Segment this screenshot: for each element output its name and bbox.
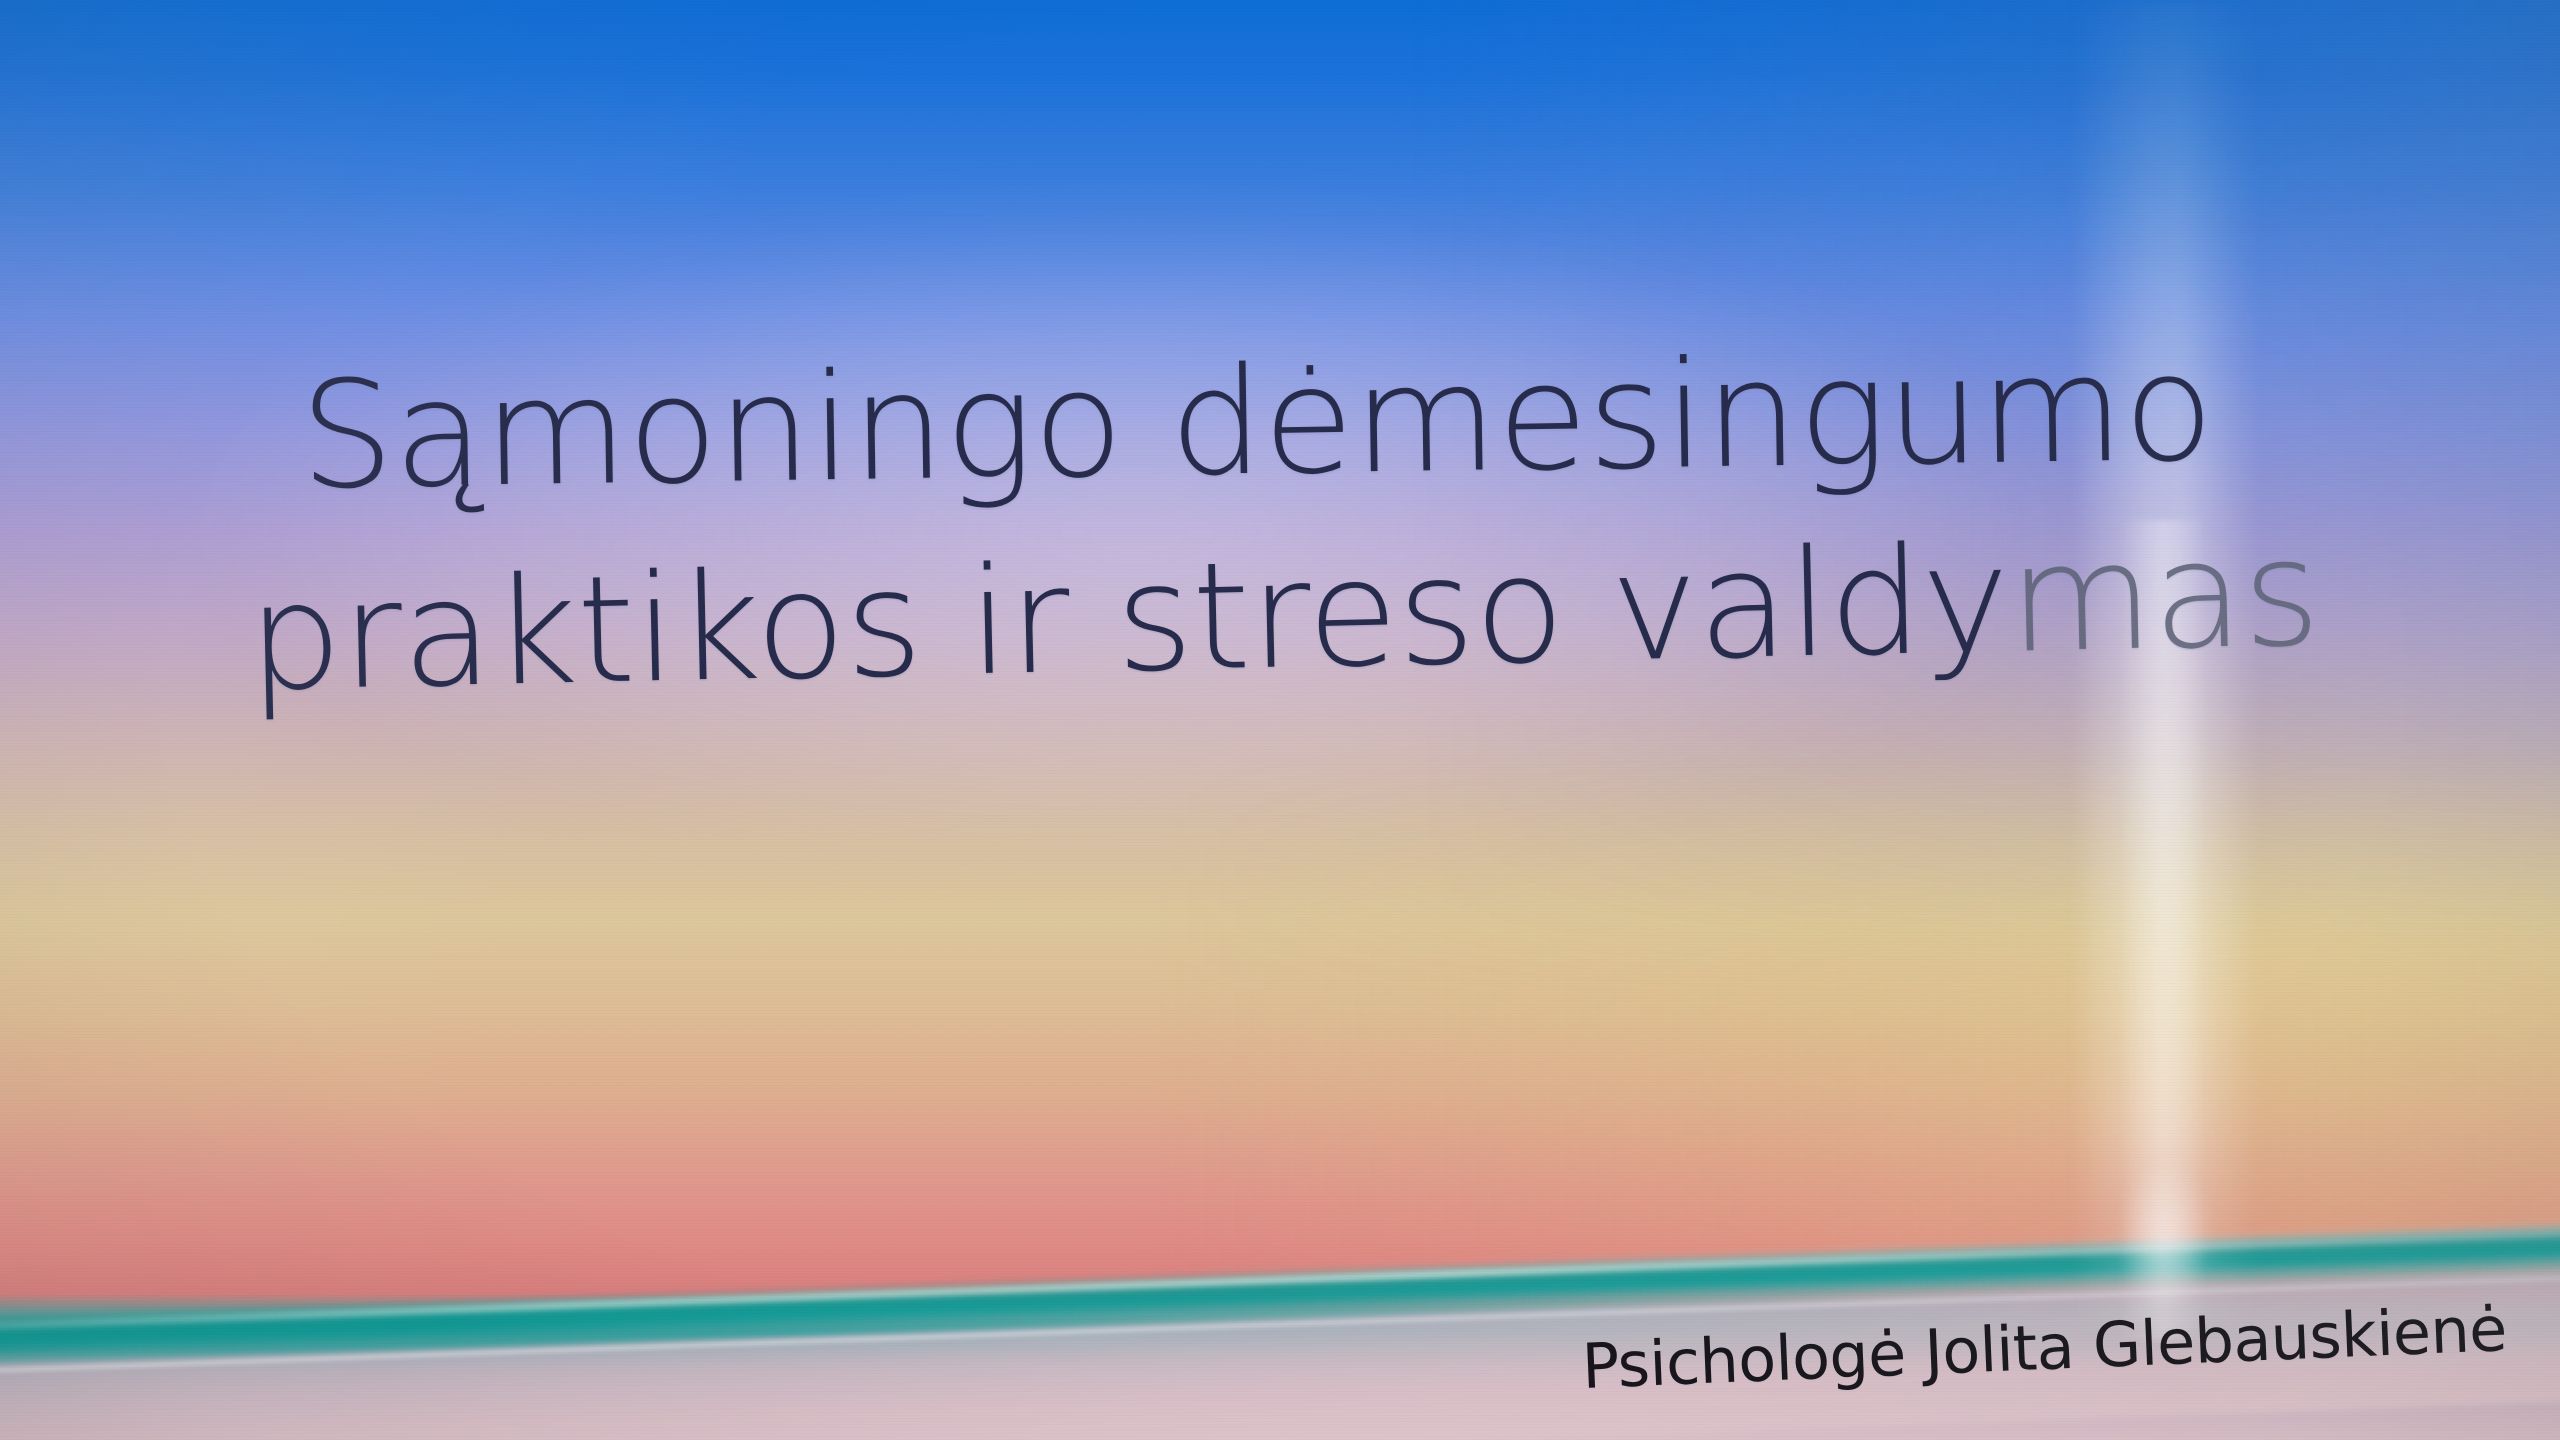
projected-slide-photo: Sąmoningo dėmesingumo praktikos ir stres… (0, 0, 2560, 1440)
glare-hotspot (2100, 1150, 2230, 1360)
